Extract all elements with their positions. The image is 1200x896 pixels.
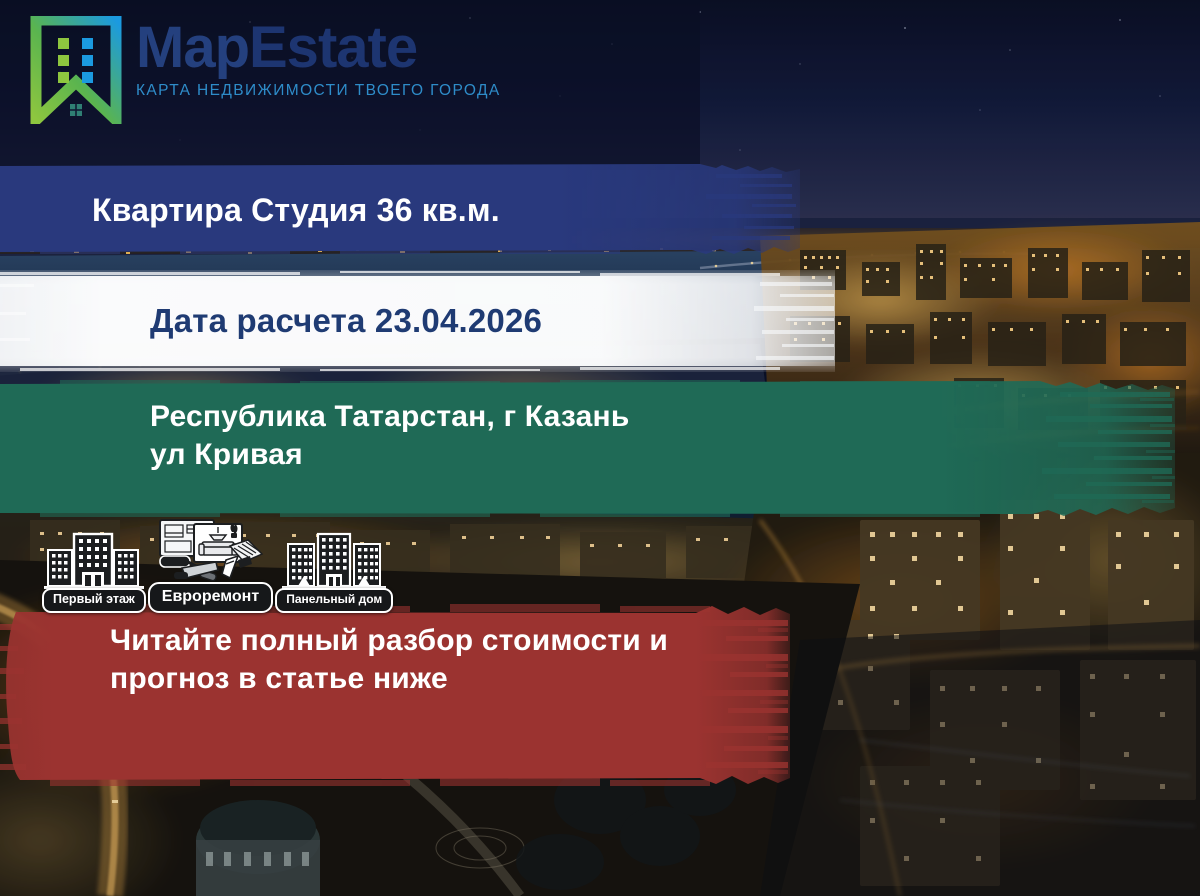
feature-badges: Первый этаж [42,516,393,613]
brand-name-part1: Map [136,15,249,80]
location-banner: Республика Татарстан, г Казань ул Кривая [0,380,1175,517]
renovation-tools-icon [152,516,268,590]
location-banner-text: Республика Татарстан, г Казань ул Кривая [0,380,1175,474]
location-line-1: Республика Татарстан, г Казань [150,398,1175,436]
location-line-2: ул Кривая [150,436,1175,474]
brand-tagline: КАРТА НЕДВИЖИМОСТИ ТВОЕГО ГОРОДА [136,82,501,100]
brand-name-part2: Estate [249,15,417,80]
promo-card: MapEstate КАРТА НЕДВИЖИМОСТИ ТВОЕГО ГОРО… [0,0,1200,896]
badge-first-floor-label: Первый этаж [42,588,146,613]
property-banner: Квартира Студия 36 кв.м. [0,164,800,254]
panel-building-icon [282,526,386,596]
brand-name: MapEstate [136,20,501,77]
brand-text: MapEstate КАРТА НЕДВИЖИМОСТИ ТВОЕГО ГОРО… [136,16,501,100]
brand-logo[interactable]: MapEstate КАРТА НЕДВИЖИМОСТИ ТВОЕГО ГОРО… [30,16,501,124]
property-banner-text: Квартира Студия 36 кв.м. [0,164,800,230]
office-building-icon [44,528,144,596]
bookmark-building-icon [30,16,122,124]
badge-panel-house[interactable]: Панельный дом [275,526,393,612]
cta-banner[interactable]: Читайте полный разбор стоимости и прогно… [0,602,790,788]
cta-banner-text: Читайте полный разбор стоимости и прогно… [0,602,790,698]
badge-first-floor[interactable]: Первый этаж [42,528,146,613]
date-banner-text: Дата расчета 23.04.2026 [0,268,835,342]
badge-panel-house-label: Панельный дом [275,588,393,612]
badge-renovation-label: Евроремонт [148,582,273,613]
date-banner: Дата расчета 23.04.2026 [0,268,835,374]
badge-renovation[interactable]: Евроремонт [148,516,273,613]
